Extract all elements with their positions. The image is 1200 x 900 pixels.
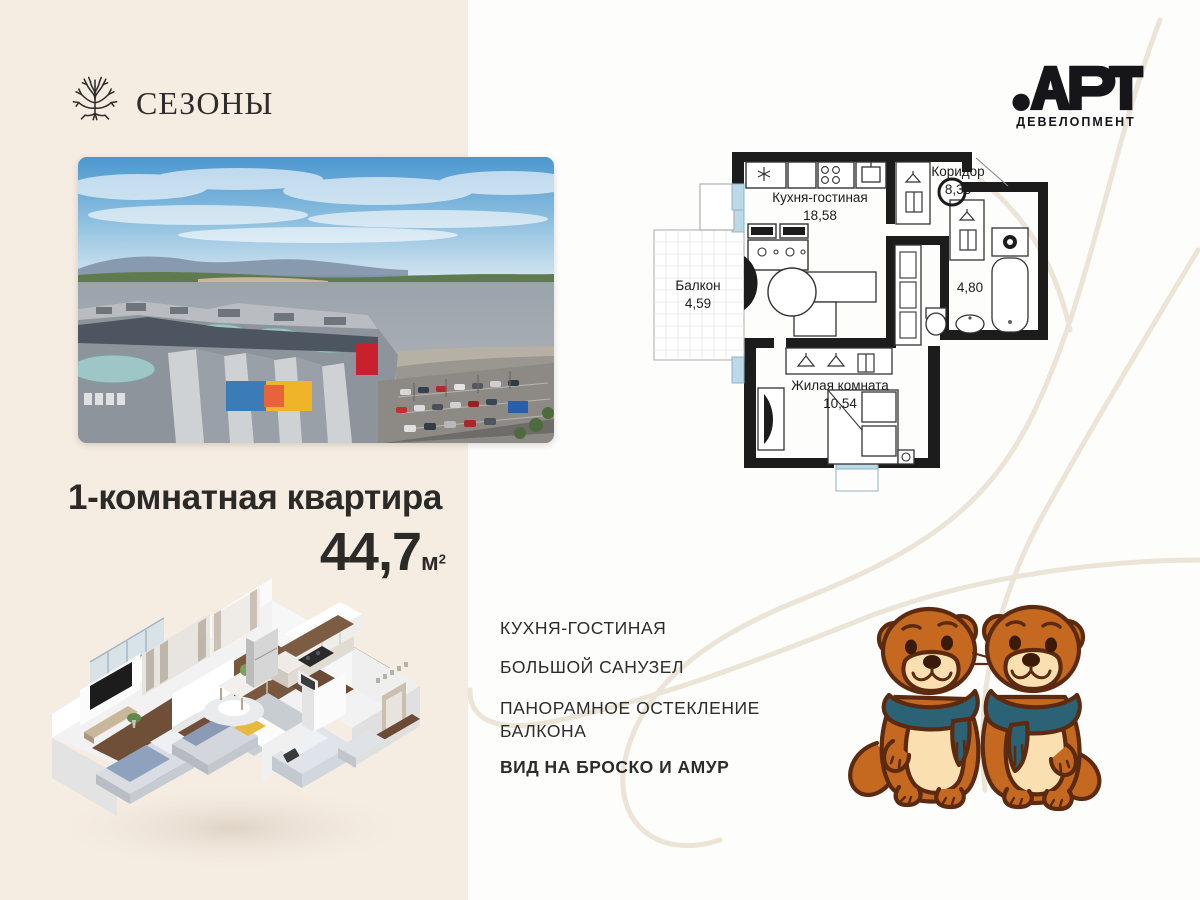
feature-item-2: ПАНОРАМНОЕ ОСТЕКЛЕНИЕ БАЛКОНА (500, 697, 830, 743)
room-label-kitchen: Кухня-гостиная (772, 190, 868, 205)
feature-item-3: ВИД НА БРОСКО И АМУР (500, 759, 830, 777)
room-area-kitchen: 18,58 (803, 208, 837, 223)
aerial-photo (78, 157, 554, 443)
brand-name: сезоны (136, 76, 273, 122)
art-development-logo-icon (1008, 60, 1144, 112)
floor-plan: Кухня-гостиная 18,58 Коридор 8,33 Балкон… (640, 140, 1060, 520)
room-area-corridor: 8,33 (945, 182, 971, 197)
tree-roots-icon (68, 72, 122, 126)
room-area-living: 10,54 (823, 396, 857, 411)
3d-apartment-render (22, 578, 442, 878)
room-area-bathroom: 4,80 (957, 280, 983, 295)
room-area-balcony: 4,59 (685, 296, 711, 311)
features-list: КУХНЯ-ГОСТИНАЯ БОЛЬШОЙ САНУЗЕЛ ПАНОРАМНО… (500, 620, 830, 777)
page-title: 1-комнатная квартира (68, 478, 448, 518)
otter-mascots (835, 565, 1120, 830)
developer-subtitle: ДЕВЕЛОПМЕНТ (1008, 115, 1144, 129)
room-label-corridor: Коридор (931, 164, 984, 179)
area-value: 44,7м2 (68, 521, 446, 583)
feature-item-1: БОЛЬШОЙ САНУЗЕЛ (500, 659, 830, 677)
feature-item-0: КУХНЯ-ГОСТИНАЯ (500, 620, 830, 638)
balcony-area (654, 230, 744, 360)
poster-canvas: сезоны ДЕВЕЛОПМЕНТ (0, 0, 1200, 900)
area-unit: м (421, 549, 439, 576)
area-superscript: 2 (439, 552, 446, 567)
room-label-balcony: Балкон (675, 278, 720, 293)
room-label-living: Жилая комната (791, 378, 889, 393)
developer-logo: ДЕВЕЛОПМЕНТ (1008, 60, 1144, 129)
area-number: 44,7 (320, 522, 421, 582)
brand-logo: сезоны (68, 72, 273, 126)
